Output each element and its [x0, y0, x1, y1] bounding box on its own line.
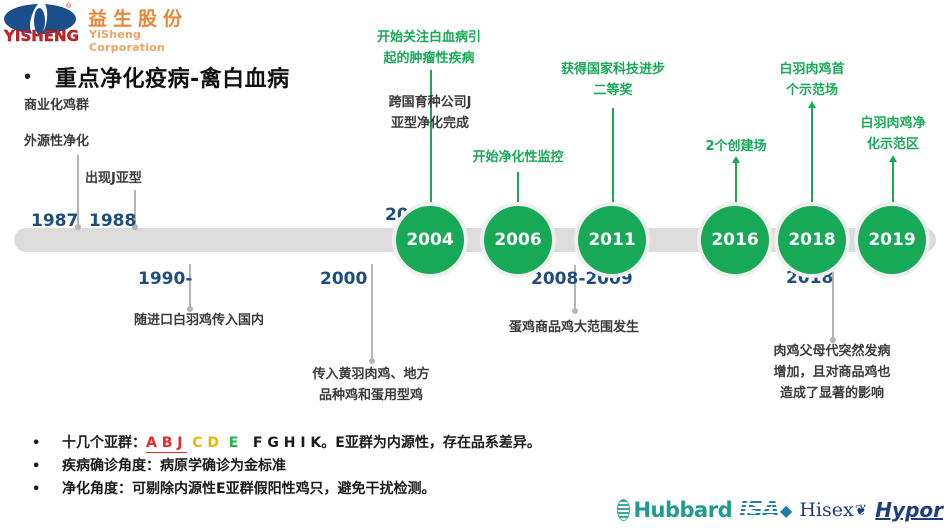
bullet-text-2: 疾病确诊角度：病原学确诊为金标准 [62, 455, 286, 478]
isa-diamond-icon: ◆ [780, 501, 792, 520]
bullet-seg-1d: E [224, 435, 243, 451]
lead-line-2000 [371, 264, 373, 361]
hubbard-logo: Hubbard [617, 498, 732, 522]
slide-canvas: ® YISHENG 益生股份 YiSheng Corporation • 重点净… [0, 0, 951, 530]
bullet-dot-1: • [32, 432, 62, 455]
hisex-label: Hisex [799, 499, 853, 521]
callout-above-7: 获得国家科技进步 二等奖 [533, 59, 693, 101]
callout-below-4: 肉鸡父母代突然发病 增加，且对商品鸡也 造成了显著的影响 [722, 341, 942, 404]
bullet-item-2: • 疾病确诊角度：病原学确诊为金标准 [32, 455, 732, 478]
lead-line-2011-green [612, 108, 614, 208]
year-label-1987: 1987 [31, 211, 78, 231]
hubbard-label: Hubbard [633, 498, 732, 522]
callout-above-9: 白羽肉鸡首 个示范场 [752, 59, 872, 101]
page-title: • 重点净化疫病-禽白血病 [24, 61, 290, 93]
year-label-1988: 1988 [89, 211, 136, 231]
callout-below-2: 传入黄羽肉鸡、地方 品种鸡和蛋用型鸡 [271, 364, 471, 406]
title-text: 重点净化疫病-禽白血病 [55, 61, 290, 93]
timeline-node-2018[interactable]: 2018 [778, 206, 846, 274]
bullet-item-1: • 十几个亚群：A B J C D E F G H I K。E亚群为内源性，存在… [32, 432, 732, 455]
bullet-seg-1a: 十几个亚群： [62, 435, 146, 451]
bullet-dot-3: • [32, 478, 62, 501]
bullet-dot-2: • [32, 455, 62, 478]
logo-chinese-name: 益生股份 [88, 4, 188, 31]
bullet-seg-1b: A B J [146, 435, 187, 453]
company-logo: ® YISHENG 益生股份 YiSheng Corporation [4, 2, 216, 46]
callout-below-1: 随进口白羽鸡传入国内 [99, 310, 299, 331]
timeline-node-2004[interactable]: 2004 [396, 206, 464, 274]
isa-logo: ISA ◆ [739, 497, 792, 523]
year-label-1990: 1990- [138, 269, 192, 289]
partner-logos: Hubbard ISA ◆ Hisex ❦ Hypor [617, 493, 943, 527]
hypor-label: Hypor [875, 498, 943, 522]
timeline-node-2011[interactable]: 2011 [578, 206, 646, 274]
callout-above-4: 开始关注白血病引 起的肿瘤性疾病 [349, 27, 509, 69]
callout-above-8: 2个创建场 [676, 136, 796, 157]
logo-corporation-text: YiSheng Corporation [89, 28, 216, 54]
bullet-text-3: 净化角度：可剔除内源性E亚群假阳性鸡只，避免干扰检测。 [62, 478, 436, 501]
year-label-2000: 2000 [320, 269, 367, 289]
hisex-leaf-icon: ❦ [855, 501, 868, 519]
callout-above-6: 开始净化性监控 [463, 147, 573, 168]
timeline-node-2006[interactable]: 2006 [484, 206, 552, 274]
bullet-text-1: 十几个亚群：A B J C D E F G H I K。E亚群为内源性，存在品系… [62, 432, 541, 455]
lead-line-2016-green [735, 162, 737, 208]
callout-below-3: 蛋鸡商品鸡大范围发生 [474, 317, 674, 338]
lead-line-2019-green [892, 161, 894, 207]
bullet-list: • 十几个亚群：A B J C D E F G H I K。E亚群为内源性，存在… [32, 432, 732, 501]
isa-label: ISA [739, 497, 779, 523]
hubbard-egg-icon [617, 499, 630, 521]
title-bullet-icon: • [24, 67, 31, 87]
hisex-logo: Hisex ❦ [799, 499, 868, 521]
bullet-seg-1e: F G H I K。E亚群为内源性，存在品系差异。 [243, 435, 541, 451]
yisheng-logo-mark: ® YISHENG [4, 3, 76, 45]
timeline-node-2016[interactable]: 2016 [701, 206, 769, 274]
callout-above-5: 跨国育种公司J 亚型净化完成 [355, 92, 505, 134]
callout-above-3: 出现J亚型 [85, 168, 195, 189]
registered-mark: ® [66, 3, 71, 10]
lead-line-2018-green [811, 107, 813, 207]
bullet-seg-1c: C D [187, 435, 224, 451]
timeline-node-2019[interactable]: 2019 [858, 206, 926, 274]
callout-above-1: 商业化鸡群 [24, 95, 144, 116]
callout-above-2: 外源性净化 [24, 131, 144, 152]
lead-line-2006-green [517, 172, 519, 208]
callout-above-10: 白羽肉鸡净 化示范区 [838, 113, 948, 155]
hypor-logo: Hypor [875, 498, 943, 522]
